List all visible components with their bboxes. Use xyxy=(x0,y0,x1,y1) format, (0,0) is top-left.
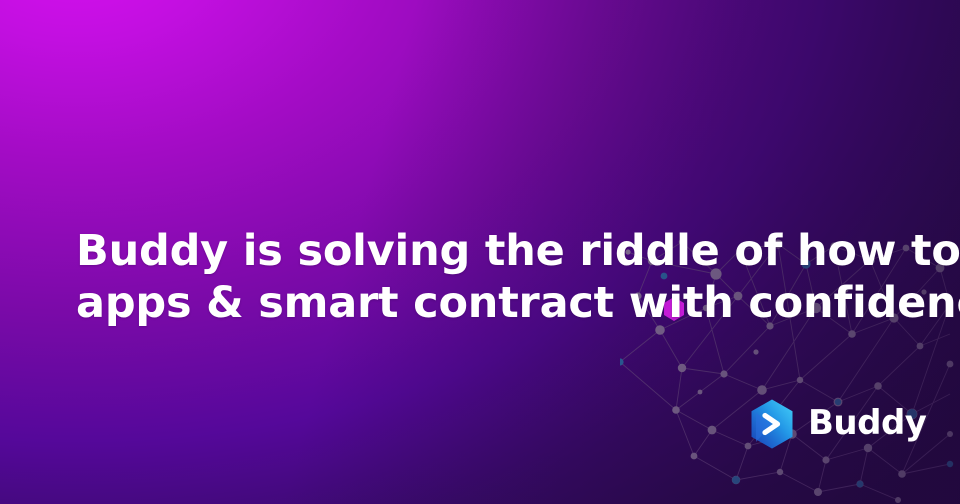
buddy-wordmark: Buddy xyxy=(808,406,926,443)
headline-line-1: Buddy is solving the riddle of how to sh… xyxy=(76,225,876,277)
hexagon-chevron-icon xyxy=(746,398,798,450)
buddy-promo-banner: Buddy is solving the riddle of how to sh… xyxy=(0,0,960,504)
page-title: Buddy is solving the riddle of how to sh… xyxy=(76,225,876,329)
buddy-logo-lockup[interactable]: Buddy xyxy=(746,398,926,450)
headline-line-2: apps & smart contract with confidence xyxy=(76,277,876,329)
